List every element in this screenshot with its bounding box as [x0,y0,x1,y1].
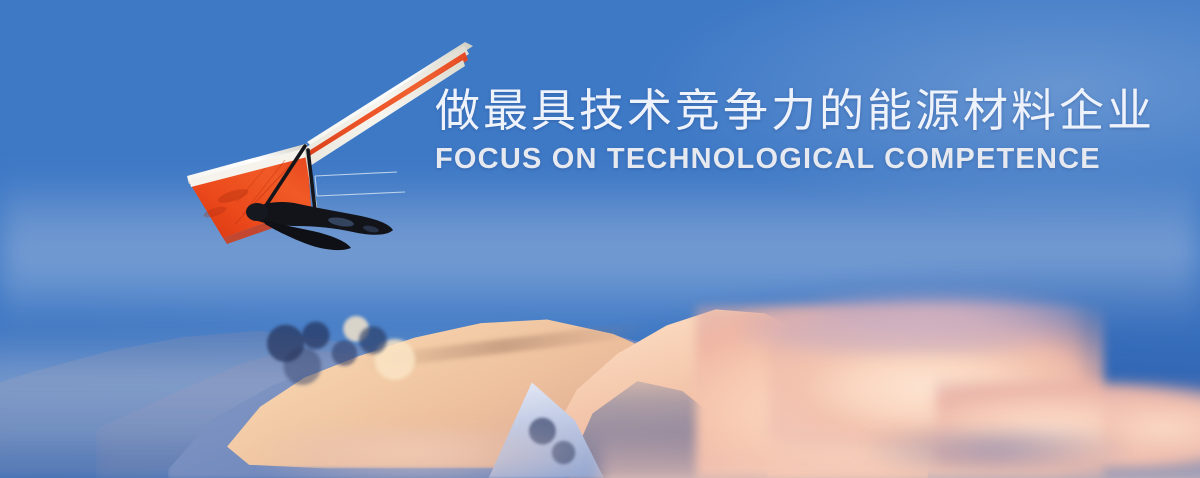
mountain-rock-outcrop [252,311,420,392]
glider-rigging [315,172,405,196]
cloud-lower-left [264,430,576,478]
hero-banner: 做最具技术竞争力的能源材料企业 FOCUS ON TECHNOLOGICAL C… [0,0,1200,478]
cloud-wisp-upper-right [816,292,1080,335]
headline-english: FOCUS ON TECHNOLOGICAL COMPETENCE [435,143,1195,176]
banner-text-block: 做最具技术竞争力的能源材料企业 FOCUS ON TECHNOLOGICAL C… [435,84,1195,176]
cloud-shadow-underside [864,430,1128,478]
headline-chinese: 做最具技术竞争力的能源材料企业 [435,84,1195,137]
